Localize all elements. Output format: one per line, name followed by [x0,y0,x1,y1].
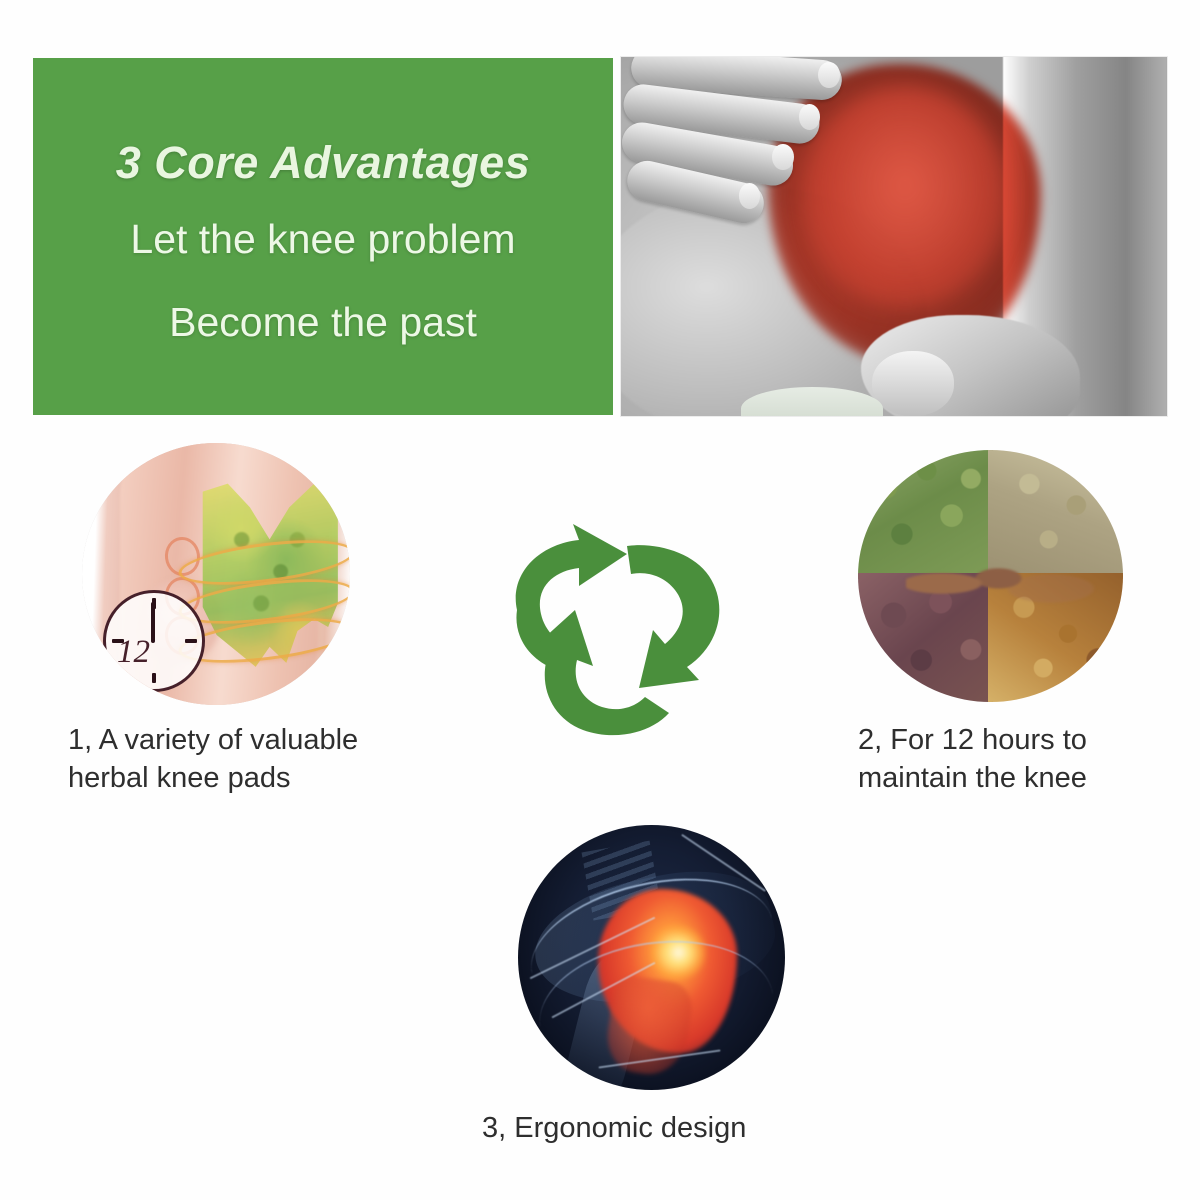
infographic-root: 3 Core Advantages Let the knee problem B… [0,0,1200,1200]
recycle-arrows-icon [487,518,743,732]
clock-hand [151,602,155,642]
header-subtitle-line-1: Let the knee problem [130,219,515,260]
feature-1-caption: 1, A variety of valuable herbal knee pad… [68,722,468,797]
xray-knee-image [518,825,785,1090]
dried-herbs-image [858,450,1123,702]
herbal-knee-pad-image: 12 [82,443,350,705]
clock-hour-label: 12 [117,636,150,669]
herb-sliced-roots [906,541,1107,627]
feature-2-caption-line-2: maintain the knee [858,760,1158,798]
header-subtitle-line-2: Become the past [169,302,477,343]
page-title: 3 Core Advantages [116,137,530,189]
clock-tick-3 [185,639,196,643]
photo-hand-upper [621,56,861,251]
feature-1-caption-line-1: 1, A variety of valuable [68,722,468,760]
feature-1-caption-line-2: herbal knee pads [68,760,468,798]
feature-3-caption-line-1: 3, Ergonomic design [482,1110,822,1148]
photo-thumb [872,351,954,416]
feature-2-caption: 2, For 12 hours to maintain the knee [858,722,1158,797]
feature-2-caption-line-1: 2, For 12 hours to [858,722,1158,760]
clock-tick-6 [152,673,156,684]
photo-fingernail [739,183,761,209]
feature-3-caption: 3, Ergonomic design [482,1110,822,1148]
header-banner: 3 Core Advantages Let the knee problem B… [33,58,613,415]
clock-icon: 12 [103,590,205,692]
photo-fingernail [818,62,840,88]
knee-pain-photo [620,56,1168,417]
